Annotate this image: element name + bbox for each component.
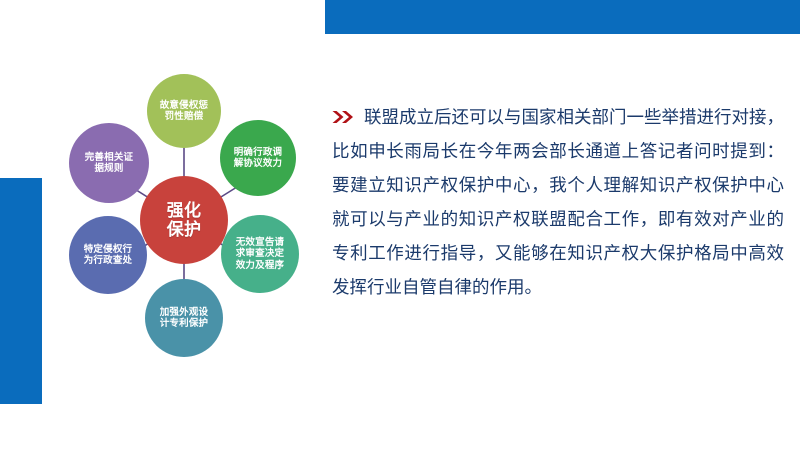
content-paragraph-text: 联盟成立后还可以与国家相关部门一些举措进行对接，比如申长雨局长在今年两会部长通道… — [332, 107, 784, 297]
diagram-node-upper-right: 明确行政调 解协议效力 — [220, 120, 296, 196]
node-lower-right-line-1: 无效宣告请 — [236, 237, 285, 248]
node-top-line-1: 故意侵权惩 — [160, 100, 209, 111]
node-lower-left-line-1: 特定侵权行 — [84, 244, 133, 255]
center-label-line-1: 强化 — [167, 201, 201, 220]
diagram-node-top: 故意侵权惩 罚性赔偿 — [147, 74, 221, 148]
left-accent-bar — [0, 178, 42, 404]
node-lower-left-line-2: 为行政查处 — [84, 255, 133, 266]
hub-and-spoke-diagram: 强化 保护 故意侵权惩 罚性赔偿 明确行政调 解协议效力 无效宣告请 求审查决定… — [48, 72, 320, 360]
node-lower-right-line-3: 效力及程序 — [236, 260, 285, 271]
diagram-center-label: 强化 保护 — [163, 201, 205, 239]
node-bottom-line-2: 计专利保护 — [160, 318, 209, 329]
node-upper-right-line-2: 解协议效力 — [234, 158, 283, 169]
diagram-node-bottom-label: 加强外观设 计专利保护 — [156, 307, 213, 329]
node-upper-right-line-1: 明确行政调 — [234, 147, 283, 158]
diagram-node-lower-right: 无效宣告请 求审查决定 效力及程序 — [221, 215, 299, 293]
diagram-node-upper-left-label: 完善相关证 据规则 — [81, 152, 138, 174]
diagram-node-upper-right-label: 明确行政调 解协议效力 — [230, 147, 287, 169]
node-lower-right-line-2: 求审查决定 — [236, 248, 285, 259]
top-accent-bar — [325, 0, 800, 34]
double-chevron-right-icon — [332, 110, 354, 124]
diagram-node-top-label: 故意侵权惩 罚性赔偿 — [156, 100, 213, 122]
node-top-line-2: 罚性赔偿 — [165, 111, 204, 122]
diagram-node-lower-right-label: 无效宣告请 求审查决定 效力及程序 — [232, 237, 289, 271]
diagram-node-upper-left: 完善相关证 据规则 — [69, 123, 149, 203]
center-label-line-2: 保护 — [167, 220, 201, 239]
diagram-node-bottom: 加强外观设 计专利保护 — [145, 279, 223, 357]
diagram-center-node: 强化 保护 — [140, 176, 228, 264]
diagram-node-lower-left: 特定侵权行 为行政查处 — [69, 216, 147, 294]
node-upper-left-line-2: 据规则 — [94, 163, 123, 174]
content-paragraph-block: 联盟成立后还可以与国家相关部门一些举措进行对接，比如申长雨局长在今年两会部长通道… — [332, 100, 784, 304]
node-upper-left-line-1: 完善相关证 — [85, 152, 134, 163]
diagram-node-lower-left-label: 特定侵权行 为行政查处 — [80, 244, 137, 266]
node-bottom-line-1: 加强外观设 — [160, 307, 209, 318]
